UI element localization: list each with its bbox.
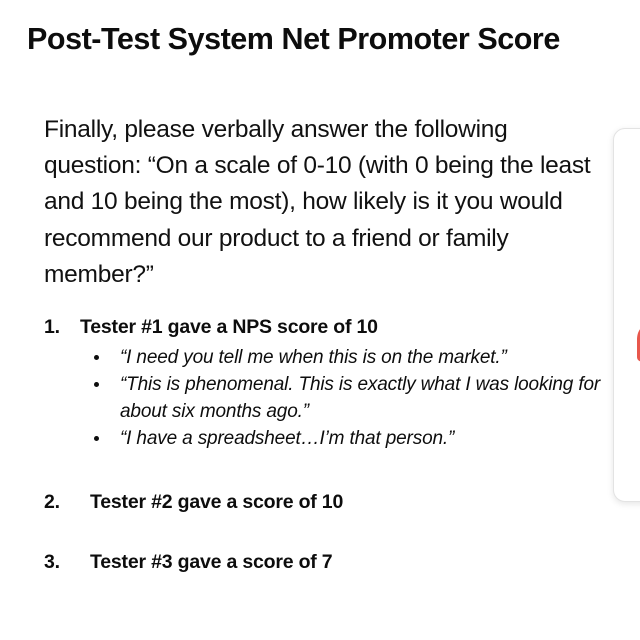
intro-paragraph: Finally, please verbally answer the foll…: [44, 112, 600, 293]
bullet-dot-icon: [94, 355, 99, 360]
list-item-heading: 2. Tester #2 gave a score of 10: [44, 488, 614, 516]
list-item: 2. Tester #2 gave a score of 10: [44, 488, 614, 516]
list-item-marker: 1.: [44, 313, 60, 341]
page-title: Post-Test System Net Promoter Score: [27, 22, 640, 56]
quote-text: “I have a spreadsheet…I’m that person.”: [120, 428, 454, 449]
quote-text: “I need you tell me when this is on the …: [120, 347, 507, 368]
list-item-marker: 2.: [44, 488, 60, 516]
quote-text: “This is phenomenal. This is exactly wha…: [120, 374, 600, 422]
list-item-label: Tester #1 gave a NPS score of 10: [80, 316, 378, 338]
list-item: “This is phenomenal. This is exactly wha…: [44, 371, 614, 425]
list-item-marker: 3.: [44, 548, 60, 576]
list-item-heading: 3. Tester #3 gave a score of 7: [44, 548, 614, 576]
tester-score-list: 1. Tester #1 gave a NPS score of 10 “I n…: [44, 313, 614, 576]
list-item-heading: 1. Tester #1 gave a NPS score of 10: [44, 313, 614, 341]
list-item: “I have a spreadsheet…I’m that person.”: [44, 425, 614, 452]
body-content: Finally, please verbally answer the foll…: [44, 112, 604, 293]
list-item: 1. Tester #1 gave a NPS score of 10 “I n…: [44, 313, 614, 452]
slide-canvas: Post-Test System Net Promoter Score Fina…: [0, 0, 640, 640]
bullet-dot-icon: [94, 382, 99, 387]
list-item-label: Tester #3 gave a score of 7: [90, 551, 332, 573]
quote-bullet-list: “I need you tell me when this is on the …: [44, 344, 614, 452]
person-icon: [631, 299, 640, 389]
bullet-dot-icon: [94, 436, 99, 441]
list-item: “I need you tell me when this is on the …: [44, 344, 614, 371]
side-card: [613, 128, 640, 502]
list-item-label: Tester #2 gave a score of 10: [90, 491, 343, 513]
list-item: 3. Tester #3 gave a score of 7: [44, 548, 614, 576]
